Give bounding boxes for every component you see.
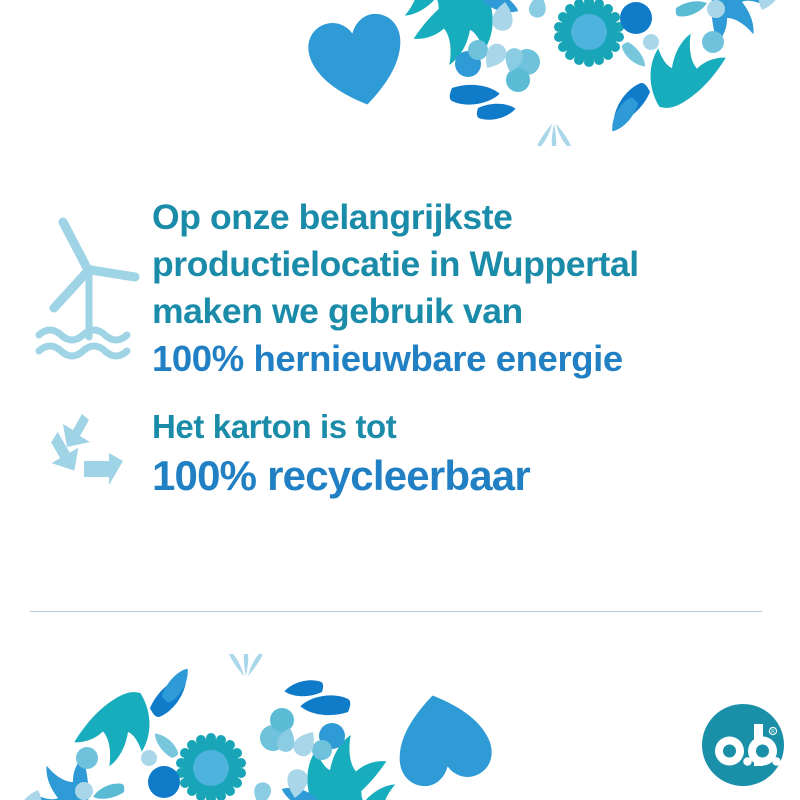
energy-line-4-highlight: 100% hernieuwbare energie xyxy=(152,335,766,382)
energy-line-2: productielocatie in Wuppertal xyxy=(152,241,766,288)
poster-canvas: Op onze belangrijkste productielocatie i… xyxy=(0,0,800,800)
recyclable-carton-text: Het karton is tot 100% recycleerbaar xyxy=(148,405,766,503)
renewable-energy-text: Op onze belangrijkste productielocatie i… xyxy=(148,194,766,382)
recycle-icon xyxy=(26,406,148,502)
section-recyclable-carton: Het karton is tot 100% recycleerbaar xyxy=(0,386,800,516)
energy-line-1: Op onze belangrijkste xyxy=(152,194,766,241)
decorative-floral-pattern-bottom xyxy=(0,654,800,800)
svg-text:R: R xyxy=(771,729,775,735)
energy-line-3: maken we gebruik van xyxy=(152,288,766,335)
carton-line-2-highlight: 100% recycleerbaar xyxy=(152,449,766,503)
ob-brand-logo[interactable]: R xyxy=(702,704,784,786)
carton-line-1: Het karton is tot xyxy=(152,405,766,449)
section-divider xyxy=(30,611,762,612)
content-stack: Op onze belangrijkste productielocatie i… xyxy=(0,190,800,516)
decorative-floral-pattern-top xyxy=(0,0,800,146)
section-renewable-energy: Op onze belangrijkste productielocatie i… xyxy=(0,190,800,386)
wind-turbine-icon xyxy=(26,213,148,363)
